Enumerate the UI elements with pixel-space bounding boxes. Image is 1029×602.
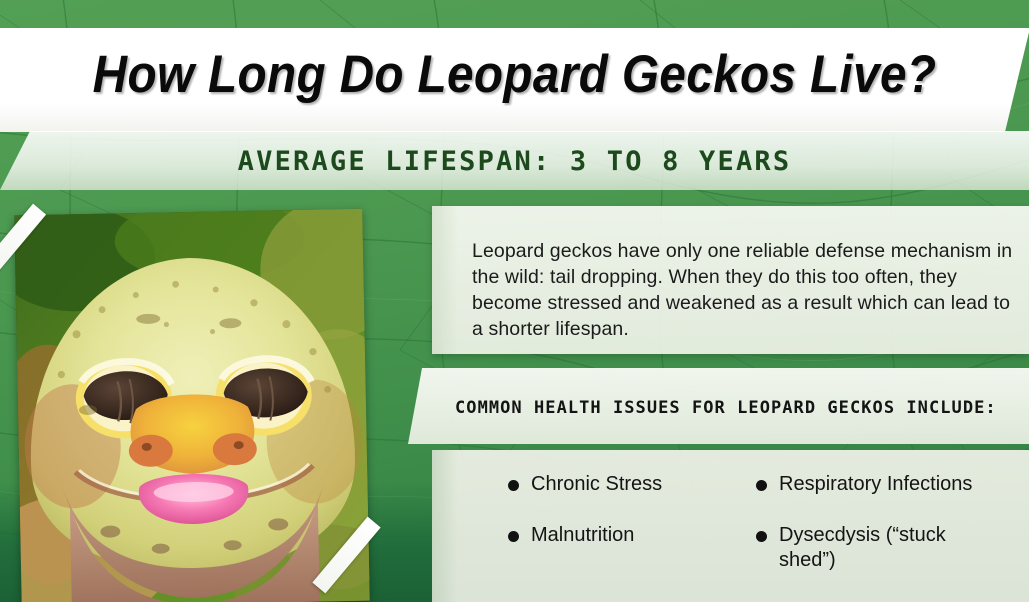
list-item: Chronic Stress [508,472,756,497]
infographic-root: How Long Do Leopard Geckos Live? AVERAGE… [0,0,1029,602]
gecko-illustration [14,209,369,602]
gecko-photo [14,209,369,602]
list-item: Malnutrition [508,523,756,573]
health-issue-label: Chronic Stress [531,472,662,497]
list-item: Respiratory Infections [756,472,1004,497]
health-issues-list: Chronic Stress Respiratory Infections Ma… [508,472,1018,573]
bullet-dot-icon [508,531,519,542]
bullet-dot-icon [756,480,767,491]
list-item: Dysecdysis (“stuck shed”) [756,523,1004,573]
bullet-dot-icon [508,480,519,491]
defense-mechanism-paragraph: Leopard geckos have only one reliable de… [472,238,1017,342]
bullet-dot-icon [756,531,767,542]
health-issue-label: Respiratory Infections [779,472,972,497]
health-issues-heading: COMMON HEALTH ISSUES FOR LEOPARD GECKOS … [455,398,997,418]
health-issue-label: Malnutrition [531,523,634,548]
subtitle-lifespan: AVERAGE LIFESPAN: 3 TO 8 YEARS [0,146,1029,177]
health-issue-label: Dysecdysis (“stuck shed”) [779,523,1004,573]
page-title: How Long Do Leopard Geckos Live? [51,44,977,105]
